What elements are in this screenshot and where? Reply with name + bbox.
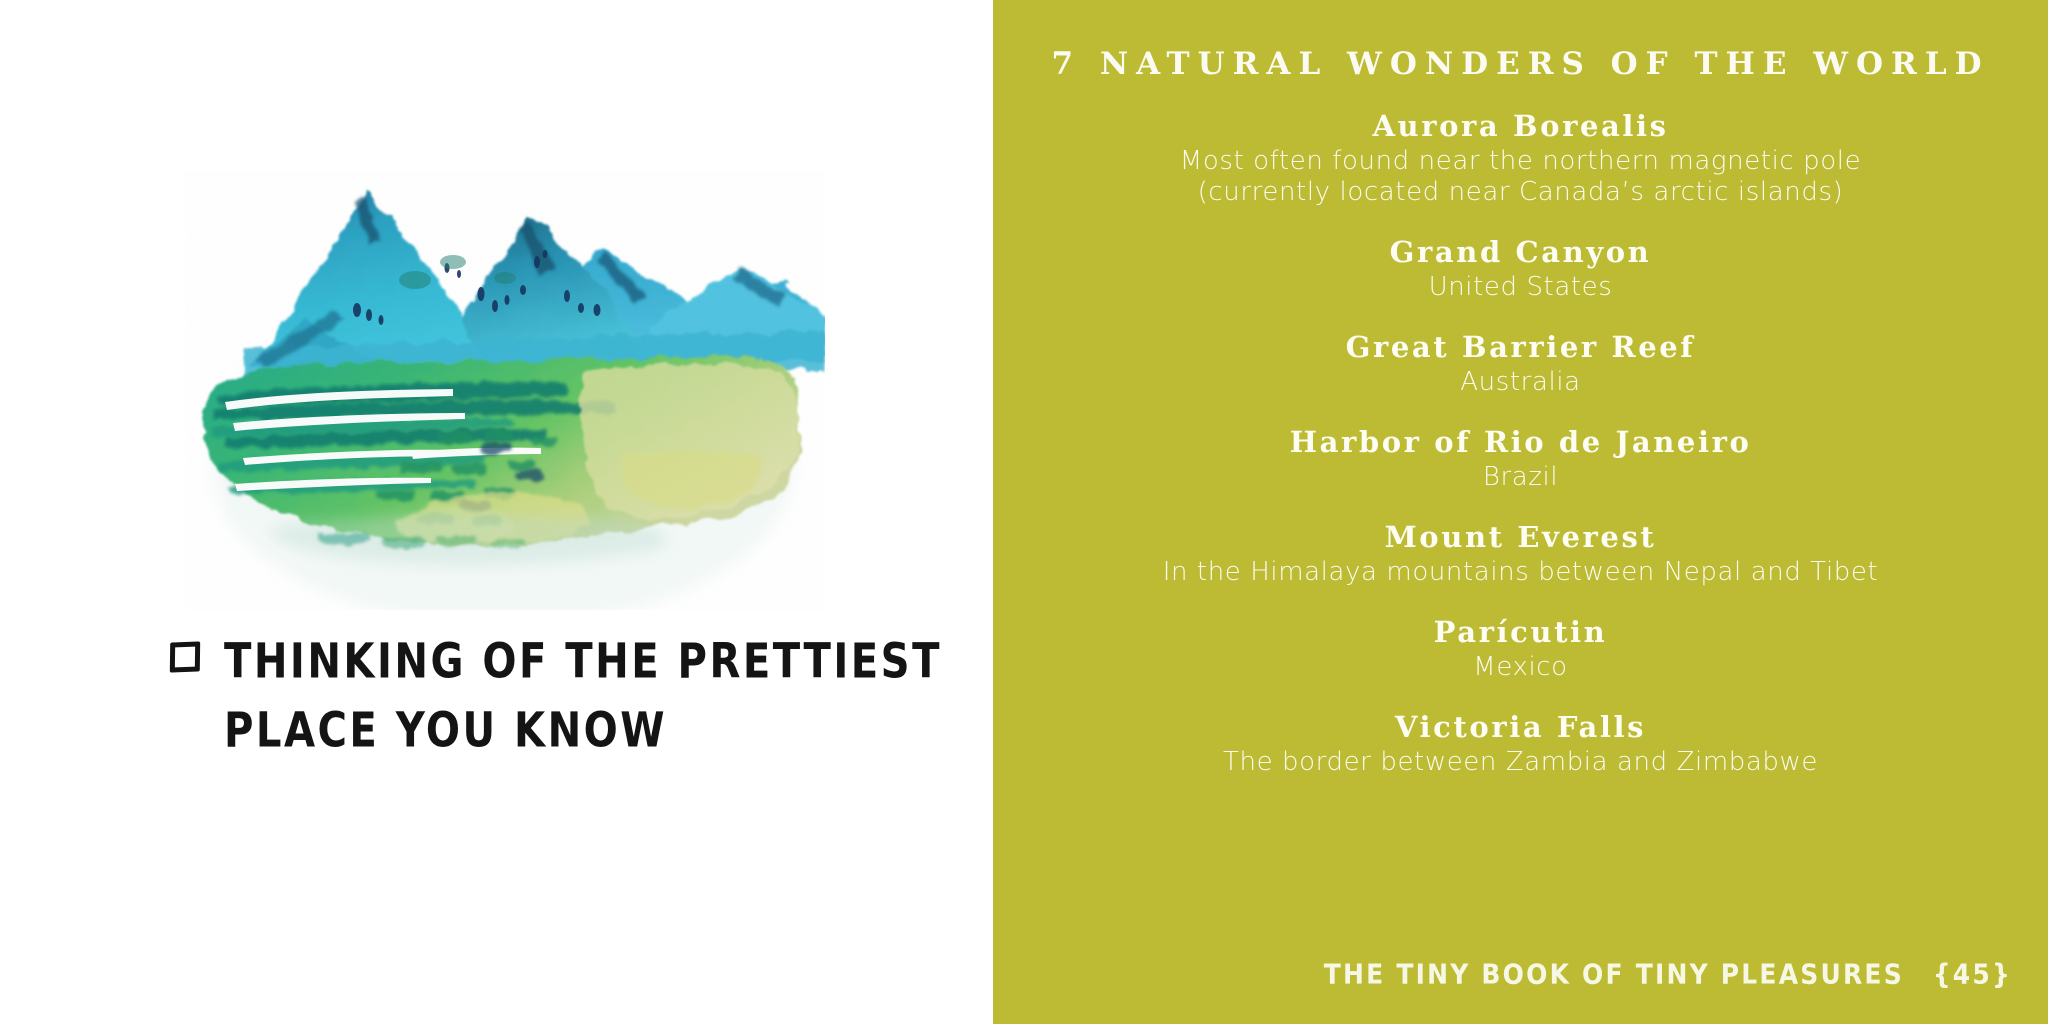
wonder-description-line: Australia: [993, 367, 2048, 398]
wonder-description-line: United States: [993, 272, 2048, 303]
colophon: THE TINY BOOK OF TINY PLEASURES {45}: [1324, 958, 2012, 990]
list-item: Harbor of Rio de Janeiro Brazil: [993, 422, 2048, 493]
list-item: Mount Everest In the Himalaya mountains …: [993, 517, 2048, 588]
list-item: Parícutin Mexico: [993, 612, 2048, 683]
journal-prompt: THINKING OF THE PRETTIEST PLACE YOU KNOW: [170, 628, 930, 754]
wonder-description-line: (currently located near Canada’s arctic …: [993, 177, 2048, 208]
prompt-row-2: PLACE YOU KNOW: [224, 706, 930, 754]
prompt-line-1: THINKING OF THE PRETTIEST: [224, 622, 942, 700]
wonder-description-line: The border between Zambia and Zimbabwe: [993, 747, 2048, 778]
wonder-description: Brazil: [993, 462, 2048, 493]
wonder-description-line: Brazil: [993, 462, 2048, 493]
wonder-name: Aurora Borealis: [993, 106, 2048, 146]
page-title: 7 NATURAL WONDERS OF THE WORLD: [993, 0, 2048, 82]
wonder-description-line: Most often found near the northern magne…: [993, 146, 2048, 177]
wonder-description: Australia: [993, 367, 2048, 398]
book-title: THE TINY BOOK OF TINY PLEASURES: [1324, 958, 1904, 990]
wonder-name: Grand Canyon: [993, 232, 2048, 272]
prompt-row-1: THINKING OF THE PRETTIEST: [170, 628, 930, 694]
wonder-name: Great Barrier Reef: [993, 327, 2048, 367]
wonder-description: Most often found near the northern magne…: [993, 146, 2048, 208]
page-number: {45}: [1933, 958, 2012, 990]
book-spread: THINKING OF THE PRETTIEST PLACE YOU KNOW…: [0, 0, 2048, 1024]
checkbox-icon[interactable]: [170, 641, 200, 672]
wonder-name: Harbor of Rio de Janeiro: [993, 422, 2048, 462]
wonder-description: United States: [993, 272, 2048, 303]
right-page: 7 NATURAL WONDERS OF THE WORLD Aurora Bo…: [993, 0, 2048, 1024]
list-item: Grand Canyon United States: [993, 232, 2048, 303]
wonder-description-line: In the Himalaya mountains between Nepal …: [993, 557, 2048, 588]
wonder-description-line: Mexico: [993, 652, 2048, 683]
list-item: Aurora Borealis Most often found near th…: [993, 106, 2048, 208]
watercolor-mountain-illustration: [185, 170, 825, 610]
wonder-description: In the Himalaya mountains between Nepal …: [993, 557, 2048, 588]
wonder-name: Parícutin: [993, 612, 2048, 652]
wonder-description: The border between Zambia and Zimbabwe: [993, 747, 2048, 778]
list-item: Great Barrier Reef Australia: [993, 327, 2048, 398]
wonders-list: Aurora Borealis Most often found near th…: [993, 106, 2048, 778]
list-item: Victoria Falls The border between Zambia…: [993, 707, 2048, 778]
wonder-description: Mexico: [993, 652, 2048, 683]
prompt-line-2: PLACE YOU KNOW: [224, 702, 667, 759]
left-page: THINKING OF THE PRETTIEST PLACE YOU KNOW: [0, 0, 993, 1024]
wonder-name: Victoria Falls: [993, 707, 2048, 747]
wonder-name: Mount Everest: [993, 517, 2048, 557]
